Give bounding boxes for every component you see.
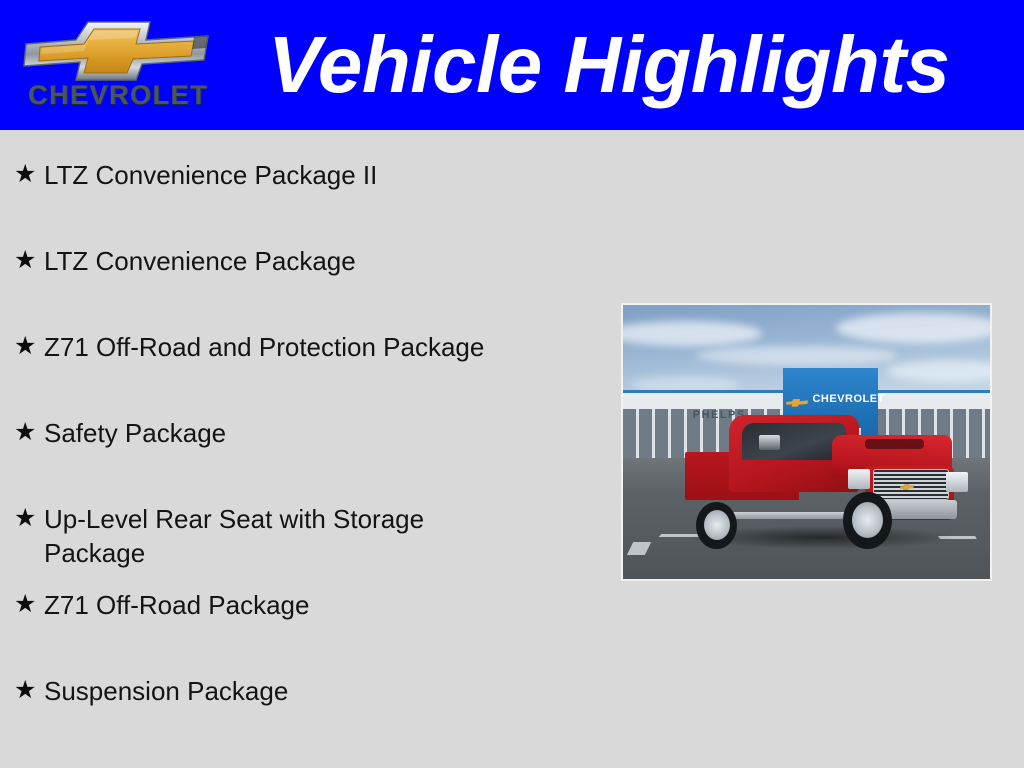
lot-stripe — [627, 542, 652, 555]
list-item-label: Z71 Off-Road Package — [44, 579, 504, 622]
list-item-label: LTZ Convenience Package — [44, 235, 504, 278]
chevrolet-bowtie-icon — [786, 394, 808, 403]
star-bullet-icon: ★ — [14, 159, 36, 189]
truck-headlight — [848, 469, 870, 489]
vehicle-highlights-list: ★ LTZ Convenience Package II ★ LTZ Conve… — [0, 149, 600, 751]
truck-rear-wheel — [696, 502, 737, 549]
truck-wheel-rim — [704, 510, 730, 540]
list-item: ★ Up-Level Rear Seat with Storage Packag… — [0, 493, 600, 579]
vehicle-photo-scene: PHELPS CHEVROLET — [623, 305, 990, 579]
star-bullet-icon: ★ — [14, 675, 36, 705]
vehicle-photo: PHELPS CHEVROLET — [621, 303, 992, 581]
dealership-brand-sign: CHEVROLET — [786, 389, 874, 409]
list-item: ★ Safety Package — [0, 407, 600, 493]
truck-wheel-rim — [852, 502, 883, 538]
list-item-label: Suspension Package — [44, 665, 504, 708]
chevrolet-logo: CHEVROLET — [18, 14, 218, 116]
header-banner: CHEVROLET Vehicle Highlights — [0, 0, 1024, 130]
chevrolet-bowtie-icon — [900, 477, 914, 483]
list-item: ★ Suspension Package — [0, 665, 600, 751]
silverado-truck — [685, 409, 957, 551]
dealership-brand-text: CHEVROLET — [812, 393, 884, 405]
star-bullet-icon: ★ — [14, 331, 36, 361]
truck-front-wheel — [843, 492, 892, 549]
star-bullet-icon: ★ — [14, 589, 36, 619]
page-title: Vehicle Highlights — [268, 13, 1024, 117]
list-item: ★ Z71 Off-Road and Protection Package — [0, 321, 600, 407]
truck-headlight — [946, 472, 968, 492]
list-item: ★ LTZ Convenience Package II — [0, 149, 600, 235]
star-bullet-icon: ★ — [14, 245, 36, 275]
truck-windows — [742, 423, 845, 460]
star-bullet-icon: ★ — [14, 417, 36, 447]
truck-hood-scoop — [865, 439, 925, 449]
star-bullet-icon: ★ — [14, 503, 36, 533]
list-item: ★ Z71 Off-Road Package — [0, 579, 600, 665]
cloud — [887, 360, 990, 382]
list-item: ★ LTZ Convenience Package — [0, 235, 600, 321]
list-item-label: Up-Level Rear Seat with Storage Package — [44, 493, 504, 570]
list-item-label: Z71 Off-Road and Protection Package — [44, 321, 504, 364]
truck-running-board — [732, 512, 851, 519]
chevrolet-wordmark: CHEVROLET — [18, 82, 218, 109]
chevrolet-bowtie-icon — [18, 14, 218, 86]
truck-side-mirror — [759, 435, 781, 451]
list-item-label: Safety Package — [44, 407, 504, 450]
list-item-label: LTZ Convenience Package II — [44, 149, 504, 192]
